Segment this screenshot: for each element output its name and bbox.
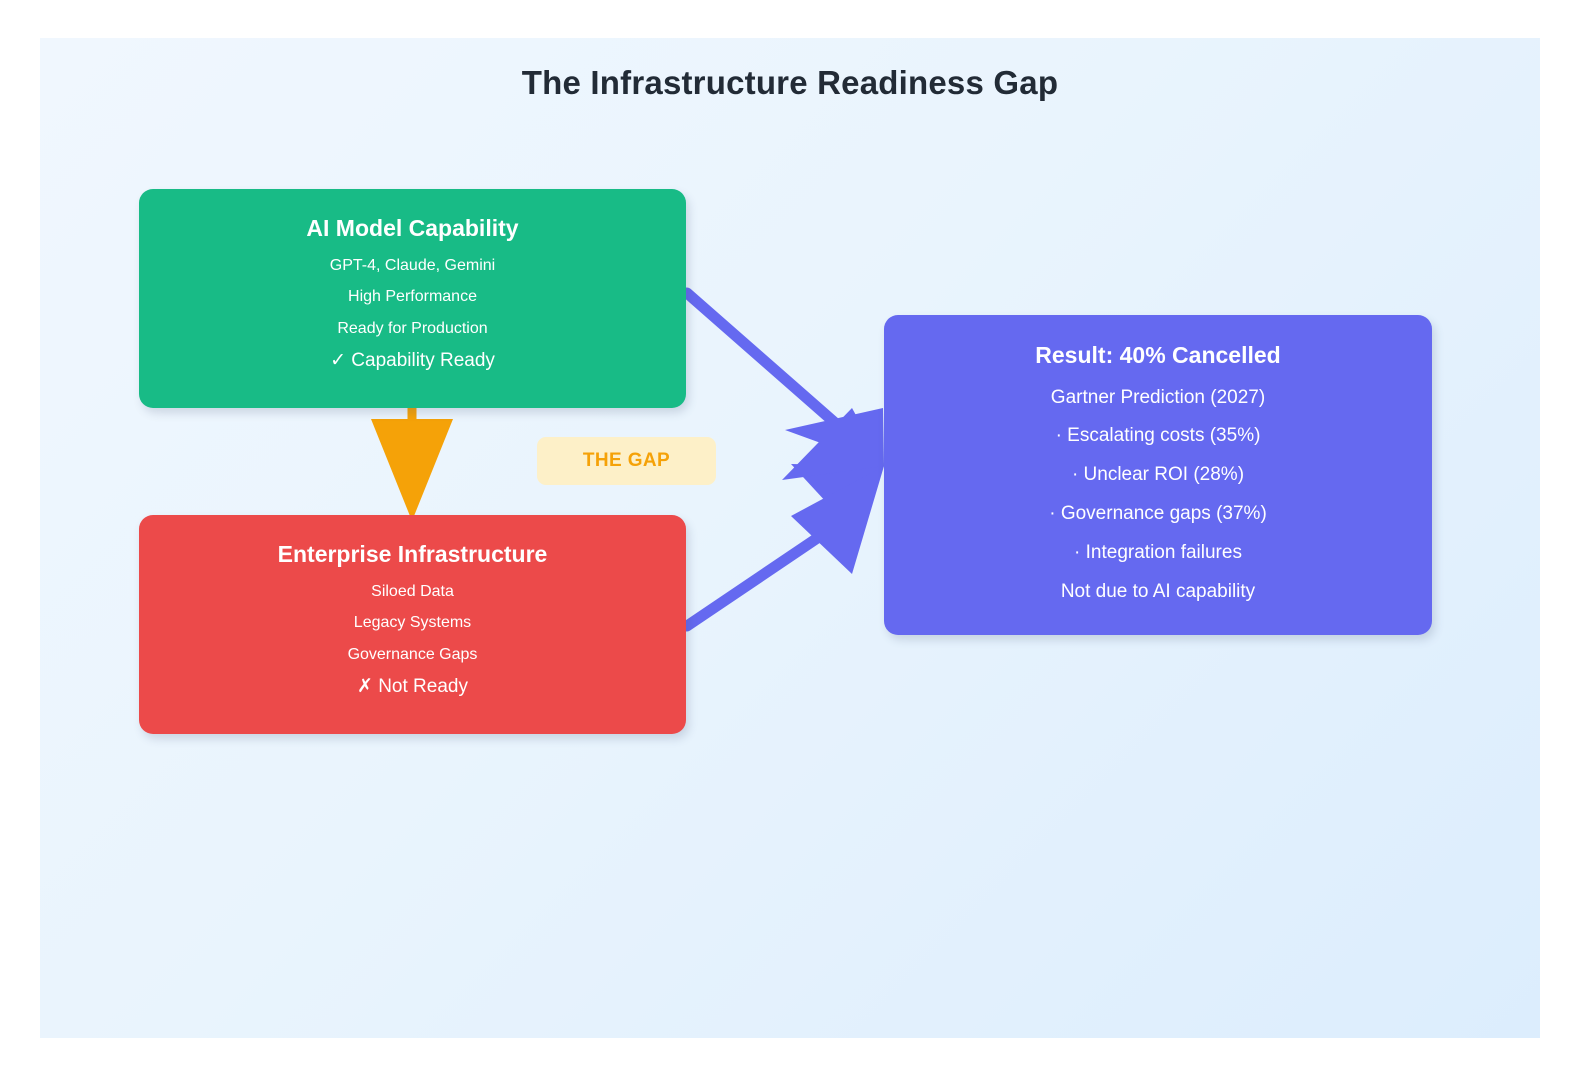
node-detail-line: Ready for Production	[337, 320, 487, 338]
node-detail-line: Legacy Systems	[354, 614, 471, 632]
node-title: AI Model Capability	[306, 215, 518, 243]
node-bullet: · Unclear ROI (28%)	[1072, 465, 1244, 486]
gap-badge-label: THE GAP	[583, 450, 670, 472]
node-detail-line: High Performance	[348, 288, 477, 306]
diagram-panel: The Infrastructure Readiness Gap	[40, 38, 1540, 1038]
node-title: Enterprise Infrastructure	[278, 541, 548, 569]
node-title: Result: 40% Cancelled	[1035, 342, 1280, 370]
gap-badge: THE GAP	[537, 437, 716, 485]
diagram-canvas: The Infrastructure Readiness Gap	[0, 0, 1580, 1080]
node-ai-model-capability[interactable]: AI Model Capability GPT-4, Claude, Gemin…	[139, 189, 686, 408]
node-bullet: · Escalating costs (35%)	[1056, 426, 1261, 447]
node-detail-line: Siloed Data	[371, 583, 454, 601]
node-status-not-ready: ✗ Not Ready	[357, 677, 468, 698]
node-bullet: · Integration failures	[1074, 543, 1242, 564]
node-detail-line: Governance Gaps	[348, 646, 478, 664]
node-bullet: · Governance gaps (37%)	[1049, 504, 1267, 525]
node-status-ready: ✓ Capability Ready	[330, 351, 495, 372]
gap-arrow-icon	[371, 408, 453, 521]
node-footnote: Not due to AI capability	[1061, 582, 1255, 603]
node-detail-line: GPT-4, Claude, Gemini	[330, 257, 495, 275]
node-result[interactable]: Result: 40% Cancelled Gartner Prediction…	[884, 315, 1432, 635]
infrastructure-to-result-arrow-icon	[687, 408, 884, 626]
node-enterprise-infrastructure[interactable]: Enterprise Infrastructure Siloed Data Le…	[139, 515, 686, 734]
node-subtitle: Gartner Prediction (2027)	[1051, 388, 1265, 409]
